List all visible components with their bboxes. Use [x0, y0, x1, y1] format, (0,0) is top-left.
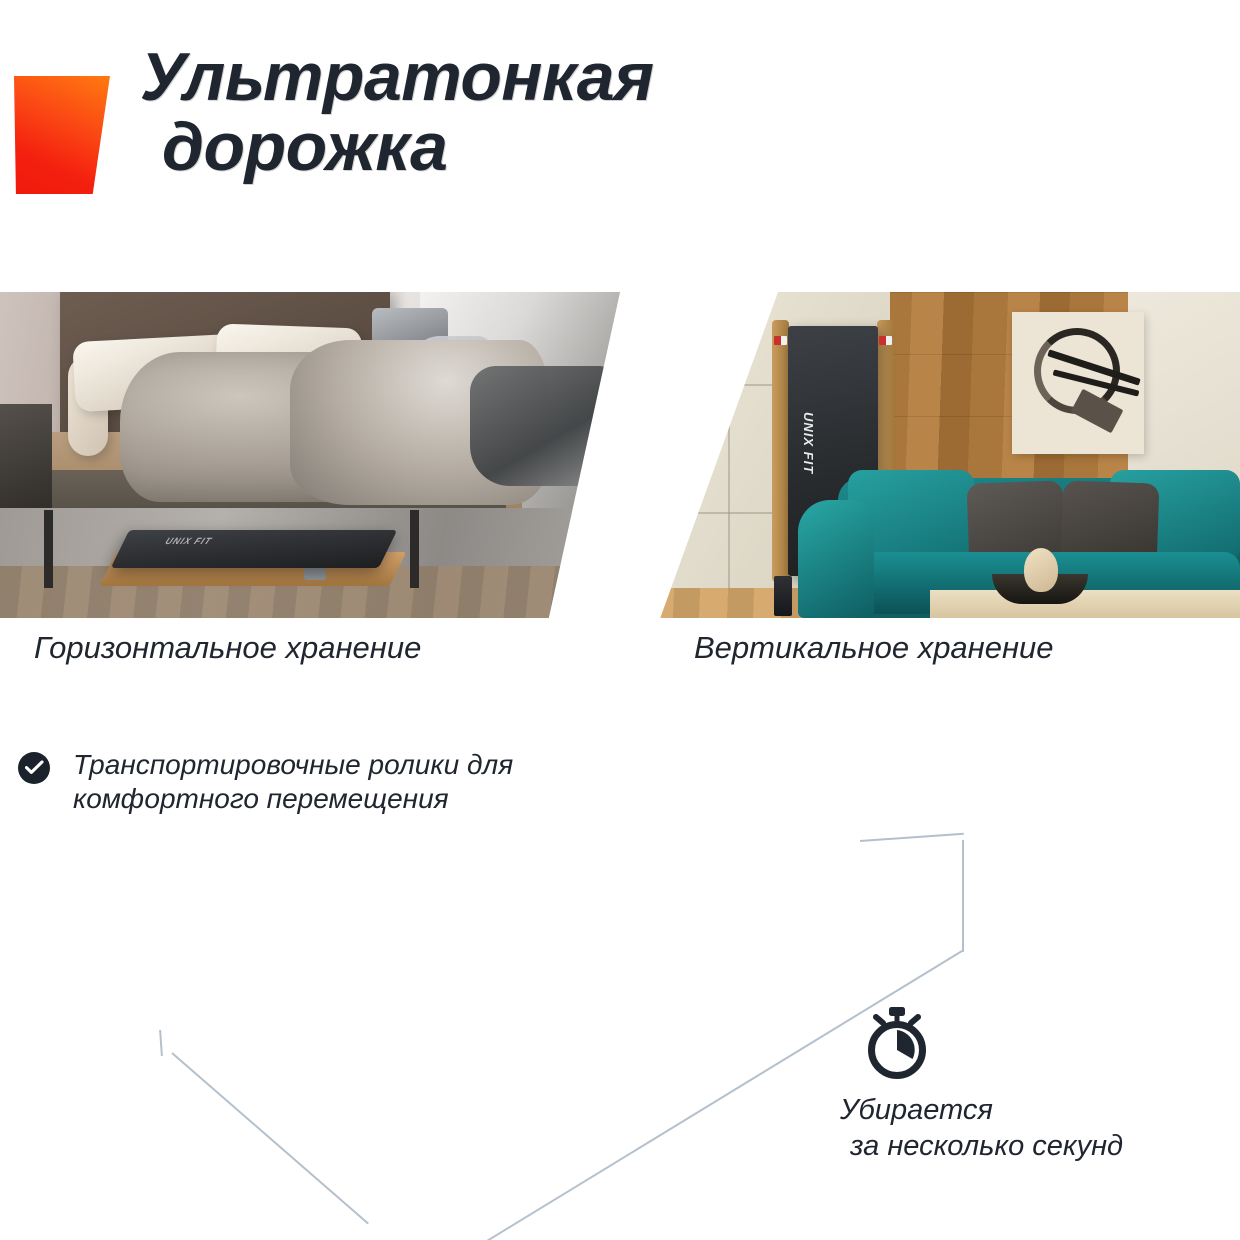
- dimension-line-top: [860, 833, 964, 842]
- feature-quick-storage-line-2: за несколько секунд: [840, 1128, 1123, 1164]
- dimension-line-height-tick: [962, 940, 964, 952]
- nightstand: [0, 404, 52, 514]
- brand-mark-icon: [14, 76, 110, 194]
- sofa-arm: [798, 500, 874, 618]
- caption-horizontal-storage: Горизонтальное хранение: [34, 630, 421, 666]
- dimension-line-height: [962, 840, 964, 942]
- wall-art-stroke-3: [1071, 389, 1124, 434]
- stone-seam-2: [728, 384, 730, 618]
- dimension-line-width: [171, 1052, 369, 1224]
- bed-leg-right: [410, 510, 419, 588]
- page-title-line-1: Ультратонкая: [140, 42, 654, 112]
- treadmill-badge-left: [774, 336, 787, 345]
- treadmill-badge-right: [879, 336, 892, 345]
- treadmill-logo: UNIX FIT: [164, 536, 214, 546]
- photo-horizontal-storage: UNIX FIT: [0, 292, 620, 618]
- wall-art: [1012, 312, 1144, 454]
- dimension-line-width-tick: [159, 1030, 163, 1056]
- caption-vertical-storage: Вертикальное хранение: [694, 630, 1054, 666]
- feature-quick-storage-line-1: Убирается: [840, 1092, 1123, 1128]
- header: Ультратонкая дорожка: [0, 0, 1240, 275]
- bed-leg-left: [44, 510, 53, 588]
- treadmill-logo: UNIX FIT: [801, 412, 816, 474]
- throw-blanket: [470, 366, 610, 486]
- decor-egg: [1024, 548, 1058, 592]
- treadmill-base: [774, 576, 792, 616]
- photo-band: UNIX FIT: [0, 292, 1240, 618]
- coffee-table: [930, 590, 1240, 618]
- page-title-line-2: дорожка: [140, 112, 654, 182]
- infographic-page: Ультратонкая дорожка: [0, 0, 1240, 1240]
- treadmill-horizontal: UNIX FIT: [108, 510, 398, 586]
- feature-quick-storage-label: Убирается за несколько секунд: [840, 1092, 1123, 1165]
- page-title: Ультратонкая дорожка: [140, 42, 654, 182]
- treadmill-deck: [111, 530, 398, 568]
- bedroom-scene: UNIX FIT: [0, 292, 620, 618]
- treadmill-wood-rail-left: [772, 320, 789, 582]
- photo-vertical-storage: UNIX FIT: [620, 292, 1240, 618]
- stopwatch-icon: [862, 1006, 932, 1085]
- living-room-scene: UNIX FIT: [620, 292, 1240, 618]
